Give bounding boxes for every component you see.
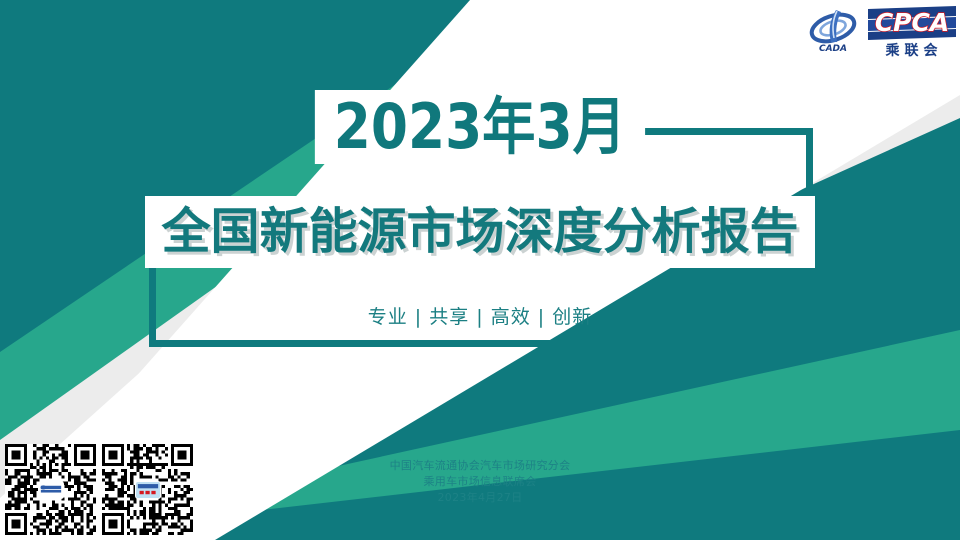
qr-code-group	[5, 444, 197, 536]
page-title: 2023年3月	[315, 90, 645, 164]
cpca-acronym: CPCA	[875, 8, 949, 37]
cpca-wordmark-block: CPCA	[868, 6, 956, 40]
subtitle-row: 全国新能源市场深度分析报告	[0, 196, 960, 268]
qr-code-right-badge	[135, 481, 161, 499]
tagline: 专业 | 共享 | 高效 | 创新	[0, 304, 960, 330]
cpca-chinese-name: 乘联会	[885, 42, 943, 58]
qr-code-left-badge	[38, 481, 64, 499]
main-title-row: 2023年3月	[0, 90, 960, 164]
qr-code-left[interactable]	[5, 444, 96, 535]
cpca-cada-logo: CADA CPCA 乘联会	[806, 4, 956, 58]
page-subtitle: 全国新能源市场深度分析报告	[145, 196, 814, 268]
qr-badge-logo-icon	[137, 483, 159, 497]
cada-swirl-icon: CADA	[808, 10, 857, 54]
presentation-slide: 2023年3月 全国新能源市场深度分析报告 专业 | 共享 | 高效 | 创新 …	[0, 0, 960, 540]
qr-code-right[interactable]	[102, 444, 193, 535]
cada-wordmark: CADA	[819, 44, 847, 54]
qr-badge-logo-icon	[40, 484, 62, 496]
